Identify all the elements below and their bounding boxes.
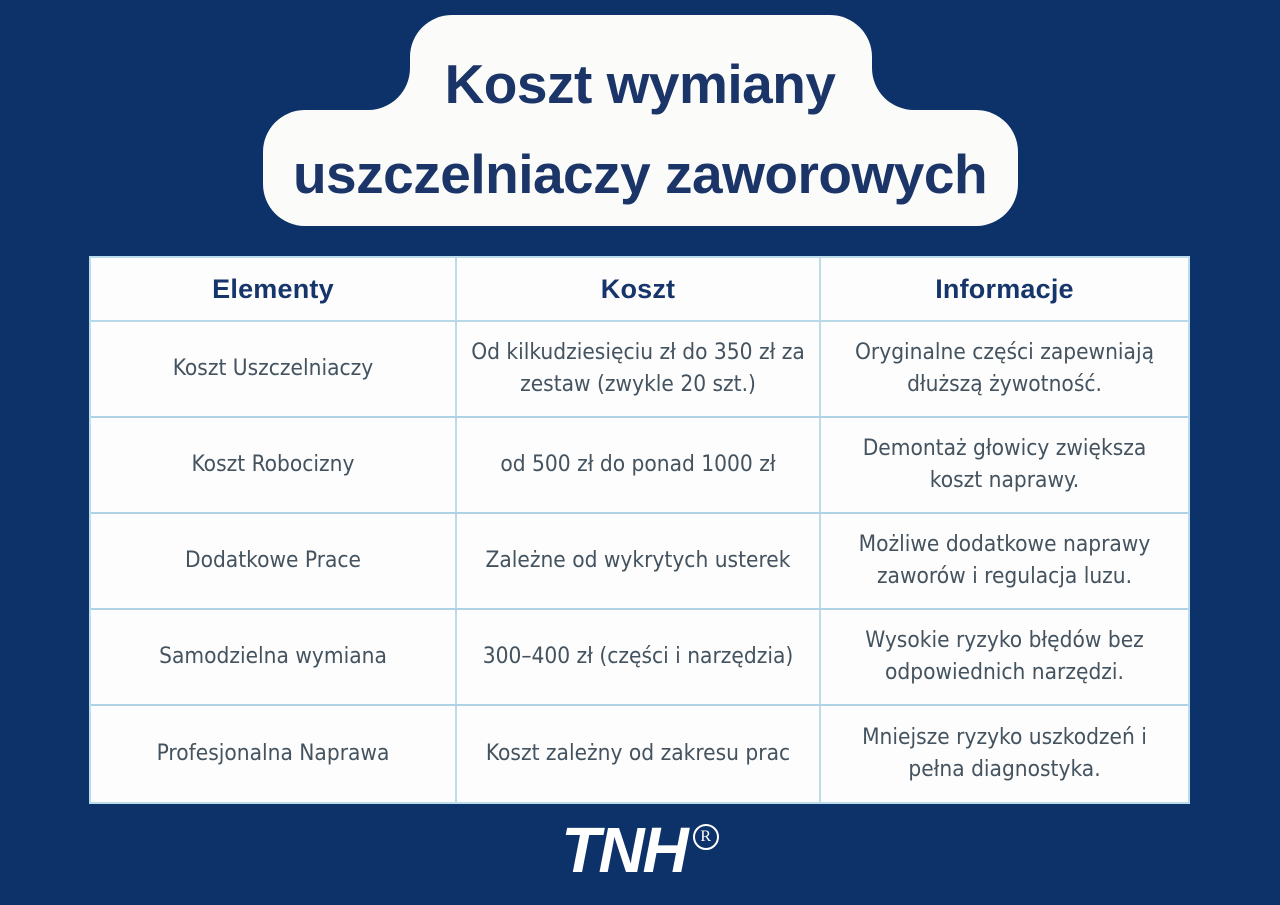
- cell-element: Profesjonalna Naprawa: [91, 706, 457, 802]
- cost-comparison-table: Elementy Koszt Informacje Koszt Uszczeln…: [89, 256, 1190, 804]
- cell-cost: Koszt zależny od zakresu prac: [457, 706, 821, 802]
- cell-info: Demontaż głowicy zwiększa koszt naprawy.: [821, 418, 1188, 512]
- column-header-label: Koszt: [601, 270, 676, 308]
- cell-element: Samodzielna wymiana: [91, 610, 457, 704]
- cell-element: Dodatkowe Prace: [91, 514, 457, 608]
- cell-text: Demontaż głowicy zwiększa koszt naprawy.: [835, 433, 1174, 497]
- cell-cost: Zależne od wykrytych usterek: [457, 514, 821, 608]
- title-banner: Koszt wymiany uszczelniaczy zaworowych: [0, 0, 1280, 240]
- cell-text: Od kilkudziesięciu zł do 350 zł za zesta…: [471, 337, 805, 401]
- cell-text: Samodzielna wymiana: [159, 641, 387, 673]
- cell-cost: 300–400 zł (części i narzędzia): [457, 610, 821, 704]
- column-header-elementy: Elementy: [91, 258, 457, 320]
- table-header-row: Elementy Koszt Informacje: [91, 258, 1188, 322]
- title-banner-shape: [0, 0, 1280, 240]
- brand-logo-wrap: TNH R: [561, 818, 719, 882]
- brand-logo: TNH R: [0, 815, 1280, 885]
- table-row: Koszt Robocizny od 500 zł do ponad 1000 …: [91, 418, 1188, 514]
- table-row: Dodatkowe Prace Zależne od wykrytych ust…: [91, 514, 1188, 610]
- column-header-label: Informacje: [935, 270, 1074, 308]
- registered-trademark-icon: R: [693, 824, 719, 850]
- cell-cost: Od kilkudziesięciu zł do 350 zł za zesta…: [457, 322, 821, 416]
- cell-cost: od 500 zł do ponad 1000 zł: [457, 418, 821, 512]
- column-header-koszt: Koszt: [457, 258, 821, 320]
- cell-text: Zależne od wykrytych usterek: [486, 545, 791, 577]
- cell-text: Możliwe dodatkowe naprawy zaworów i regu…: [835, 529, 1174, 593]
- cell-info: Oryginalne części zapewniają dłuższą żyw…: [821, 322, 1188, 416]
- table-row: Profesjonalna Naprawa Koszt zależny od z…: [91, 706, 1188, 802]
- cell-text: Mniejsze ryzyko uszkodzeń i pełna diagno…: [835, 722, 1174, 786]
- cell-element: Koszt Uszczelniaczy: [91, 322, 457, 416]
- cell-text: Wysokie ryzyko błędów bez odpowiednich n…: [835, 625, 1174, 689]
- cell-info: Możliwe dodatkowe naprawy zaworów i regu…: [821, 514, 1188, 608]
- cell-text: Oryginalne części zapewniają dłuższą żyw…: [835, 337, 1174, 401]
- cell-text: Dodatkowe Prace: [185, 545, 361, 577]
- cell-text: 300–400 zł (części i narzędzia): [483, 641, 794, 673]
- cell-text: Koszt zależny od zakresu prac: [486, 738, 790, 770]
- cell-text: Koszt Uszczelniaczy: [173, 353, 373, 385]
- column-header-label: Elementy: [212, 270, 334, 308]
- table-row: Samodzielna wymiana 300–400 zł (części i…: [91, 610, 1188, 706]
- cell-info: Mniejsze ryzyko uszkodzeń i pełna diagno…: [821, 706, 1188, 802]
- table-row: Koszt Uszczelniaczy Od kilkudziesięciu z…: [91, 322, 1188, 418]
- cell-text: od 500 zł do ponad 1000 zł: [500, 449, 775, 481]
- cell-element: Koszt Robocizny: [91, 418, 457, 512]
- brand-wordmark: TNH: [561, 818, 687, 882]
- cell-info: Wysokie ryzyko błędów bez odpowiednich n…: [821, 610, 1188, 704]
- cell-text: Profesjonalna Naprawa: [157, 738, 390, 770]
- cell-text: Koszt Robocizny: [192, 449, 355, 481]
- column-header-informacje: Informacje: [821, 258, 1188, 320]
